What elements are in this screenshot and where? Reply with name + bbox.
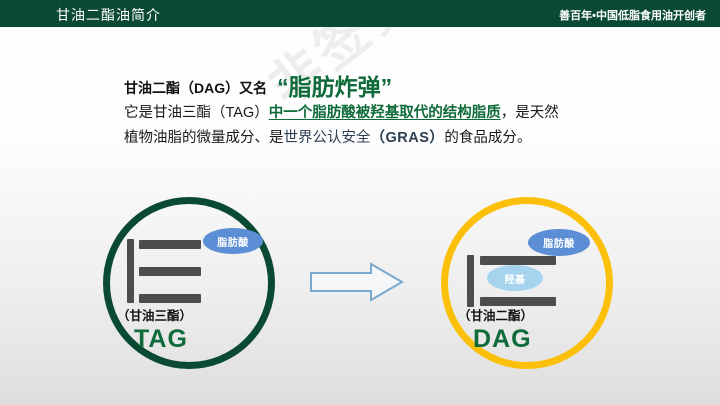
tag-molecule-glyph (127, 237, 217, 307)
dag-caption-en: DAG (473, 325, 532, 354)
body-line-3-part2: 世界公认安全 (284, 130, 371, 146)
body-line-2: 它是甘油三酯（TAG）中一个脂肪酸被羟基取代的结构脂质，是天然 (124, 101, 624, 126)
slide-header-bar: 甘油二酯油简介 善百年•中国低脂食用油开创者 (0, 0, 720, 27)
dag-caption-cn: （甘油二酯） (458, 305, 533, 324)
headline-prefix: 甘油二酯（DAG）又名 (124, 80, 267, 96)
tag-caption-cn: （甘油三酯） (117, 305, 192, 324)
glycerol-backbone-bar (127, 239, 134, 303)
page-title: 甘油二酯油简介 (56, 5, 161, 25)
body-line-2-part2: ，是天然 (501, 105, 559, 121)
fatty-acid-chain-bar-1 (139, 240, 201, 249)
slide-canvas: 非签页水印 甘油二酯油简介 善百年•中国低脂食用油开创者 甘油二酯（DAG）又名… (0, 0, 720, 405)
body-line-3-gras: （GRAS） (371, 130, 445, 146)
fatty-acid-chain-bar-3 (139, 294, 201, 303)
body-line-3-part1: 植物油脂的微量成分、是 (124, 130, 284, 146)
body-line-3-part3: 的食品成分。 (444, 130, 531, 146)
headline-row: 甘油二酯（DAG）又名“脂肪炸弹” (124, 74, 624, 101)
transformation-arrow (309, 262, 405, 307)
glycerol-backbone-bar (467, 255, 474, 307)
body-line-2-part1: 它是甘油三酯（TAG） (124, 105, 269, 121)
body-line-2-highlight: 中一个脂肪酸被羟基取代的结构脂质 (269, 105, 501, 121)
fatty-acid-chain-bar-2 (139, 267, 201, 276)
body-copy: 甘油二酯（DAG）又名“脂肪炸弹” 它是甘油三酯（TAG）中一个脂肪酸被羟基取代… (124, 74, 624, 151)
dag-hydroxyl-label: 羟基 (487, 265, 543, 291)
fatty-acid-chain-bar-1 (480, 256, 556, 265)
tag-fatty-acid-label: 脂肪酸 (203, 228, 263, 254)
brand-tagline: 善百年•中国低脂食用油开创者 (559, 7, 706, 23)
tag-caption-en: TAG (134, 325, 188, 354)
body-line-3: 植物油脂的微量成分、是世界公认安全（GRAS）的食品成分。 (124, 126, 624, 151)
headline-highlight: “脂肪炸弹” (277, 74, 392, 100)
dag-fatty-acid-label: 脂肪酸 (528, 229, 590, 256)
arrow-right-icon (309, 262, 405, 302)
